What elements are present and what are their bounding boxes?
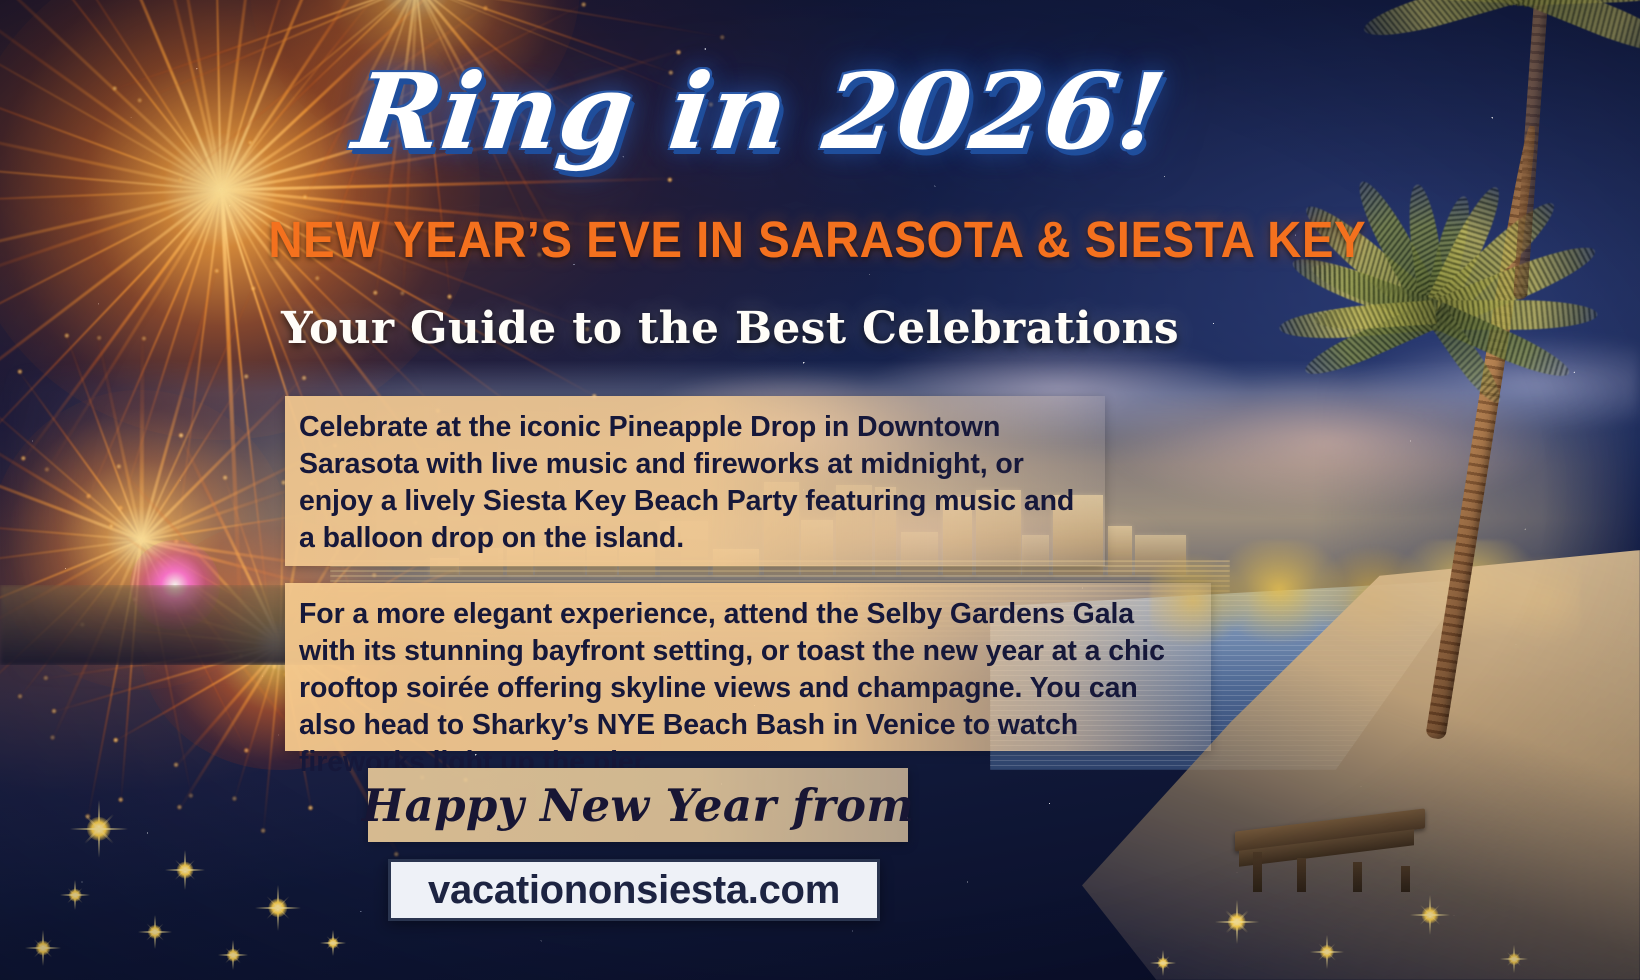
- poster-subtitle: NEW YEAR’S EVE IN SARASOTA & SIESTA KEY: [57, 210, 1582, 269]
- description-paragraph-2: For a more elegant experience, attend th…: [285, 583, 1211, 751]
- website-badge[interactable]: vacationonsiesta.com: [388, 859, 880, 921]
- website-url-text: vacationonsiesta.com: [428, 868, 840, 913]
- poster-tagline: Your Guide to the Best Celebrations: [0, 303, 1640, 354]
- signoff-text: Happy New Year from: [362, 779, 914, 832]
- page-title: Ring in 2026!: [0, 58, 1640, 166]
- poster-content: Ring in 2026! NEW YEAR’S EVE IN SARASOTA…: [0, 0, 1640, 980]
- description-paragraph-1: Celebrate at the iconic Pineapple Drop i…: [285, 396, 1105, 566]
- signoff-banner: Happy New Year from: [368, 768, 908, 842]
- poster-canvas: Ring in 2026! NEW YEAR’S EVE IN SARASOTA…: [0, 0, 1640, 980]
